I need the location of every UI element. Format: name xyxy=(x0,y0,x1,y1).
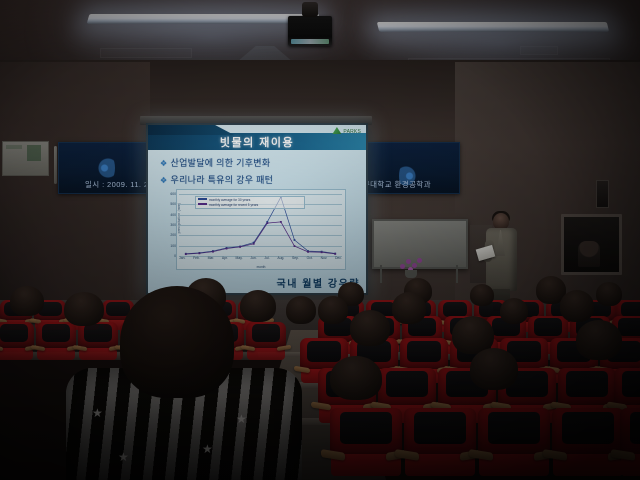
chart-data-point xyxy=(294,245,296,247)
chart-data-point xyxy=(321,251,323,253)
legend-label: monthly average for recent 5 years xyxy=(209,203,258,207)
presentation-slide: 빗물의 재이용 PARKS ❖산업발달에 의한 기후변화 ❖우리나라 특유의 강… xyxy=(148,125,366,293)
list-item: ❖우리나라 특유의 강우 패턴 xyxy=(160,173,352,186)
bullet-icon: ❖ xyxy=(160,176,167,185)
auditorium-seat xyxy=(36,322,76,362)
audience-member: ★ ★ ★ ★ ★ xyxy=(78,286,288,480)
audience-head xyxy=(500,298,528,324)
slide-bullet-list: ❖산업발달에 의한 기후변화 ❖우리나라 특유의 강우 패턴 xyxy=(160,156,352,190)
audience-member xyxy=(330,356,382,400)
chart-data-point xyxy=(266,222,268,224)
audience-head xyxy=(596,282,622,306)
chart-data-point xyxy=(294,239,296,241)
wall-speaker xyxy=(596,180,609,208)
seat-back-inner xyxy=(386,371,428,397)
chart-x-tick: Sep. xyxy=(292,256,299,264)
seat-back-inner xyxy=(42,324,71,342)
audience-member xyxy=(392,292,426,324)
seat-back-inner xyxy=(566,371,608,397)
wall-poster xyxy=(2,141,49,176)
chart-data-point xyxy=(185,253,187,255)
chart-plot-area: monthly average for 30 years monthly ave… xyxy=(179,194,342,256)
auditorium-seat xyxy=(620,408,640,480)
rainfall-chart: precipitation (mm) 6005004003002001000 m… xyxy=(176,189,346,270)
auditorium-seat xyxy=(404,408,476,480)
bullet-text: 산업발달에 의한 기후변화 xyxy=(170,158,270,168)
chart-x-axis-label: month xyxy=(177,265,345,269)
ceiling-projector xyxy=(288,16,332,46)
seat-back-inner xyxy=(340,412,392,444)
wall-light-strip xyxy=(54,146,57,184)
audience-member xyxy=(286,296,316,324)
chart-x-tick: Jun. xyxy=(250,256,256,264)
chart-y-tick: 500 xyxy=(164,202,176,206)
auditorium-seat xyxy=(0,322,34,362)
audience-head xyxy=(470,284,494,306)
seat-back-inner xyxy=(562,412,614,444)
chart-y-tick: 100 xyxy=(164,244,176,248)
booth-operator xyxy=(578,241,600,267)
ceiling-vent-right xyxy=(520,46,558,55)
audience-member xyxy=(560,290,594,322)
flower-vase xyxy=(405,270,417,278)
seat-back-inner xyxy=(443,302,467,317)
audience-head xyxy=(470,348,518,390)
seat-back-inner xyxy=(414,412,466,444)
audience-head xyxy=(560,290,594,322)
audience-member xyxy=(470,284,494,306)
slide-logo: PARKS xyxy=(327,127,361,138)
legend-swatch xyxy=(198,203,207,205)
audience-head xyxy=(392,292,426,324)
legend-label: monthly average for 30 years xyxy=(209,198,250,202)
seat-back-inner xyxy=(622,371,640,397)
seat-back-inner xyxy=(488,412,540,444)
auditorium-seat xyxy=(478,408,550,480)
chart-legend: monthly average for 30 years monthly ave… xyxy=(195,196,305,209)
chart-x-tick: Apr. xyxy=(222,256,228,264)
seat-back-inner xyxy=(621,302,640,317)
auditorium-seat xyxy=(330,408,402,480)
chart-y-tick: 200 xyxy=(164,233,176,237)
audience-head xyxy=(576,320,622,360)
audience-member xyxy=(350,310,390,346)
legend-item: monthly average for recent 5 years xyxy=(198,203,302,208)
seat-back-inner xyxy=(407,341,442,362)
audience-member xyxy=(10,286,44,316)
projection-booth-window xyxy=(561,214,622,275)
audience-head xyxy=(318,296,348,324)
chart-line-series xyxy=(186,222,335,254)
chart-x-ticks: Jan.Feb.Mar.Apr.May.Jun.Jul.Aug.Sep.Oct.… xyxy=(179,256,342,264)
audience-member xyxy=(576,320,622,360)
seat-back-inner xyxy=(534,318,563,336)
chart-y-tick: 300 xyxy=(164,223,176,227)
ceiling-light-right xyxy=(377,22,609,32)
chart-data-point xyxy=(253,243,255,245)
bullet-icon: ❖ xyxy=(160,159,167,168)
chart-x-tick: Nov. xyxy=(321,256,328,264)
audience-head xyxy=(350,310,390,346)
audience-member xyxy=(318,296,348,324)
chart-x-tick: Feb. xyxy=(193,256,200,264)
bullet-text: 우리나라 특유의 강우 패턴 xyxy=(170,175,273,185)
audience-head xyxy=(330,356,382,400)
chart-data-point xyxy=(198,252,200,254)
ceiling-light-left xyxy=(87,14,320,24)
audience-head xyxy=(10,286,44,316)
chart-y-tick: 400 xyxy=(164,213,176,217)
chart-x-tick: Mar. xyxy=(208,256,215,264)
chart-data-point xyxy=(334,253,336,255)
chart-x-tick: Aug. xyxy=(277,256,284,264)
whiteboard-leg-left xyxy=(380,265,382,283)
auditorium-seat xyxy=(552,408,624,480)
chart-x-tick: Jan. xyxy=(179,256,185,264)
audience-member xyxy=(596,282,622,306)
ceiling-vent-left xyxy=(100,48,192,58)
chart-data-point xyxy=(212,251,214,253)
legend-swatch xyxy=(198,198,207,200)
seat-back-inner xyxy=(0,324,28,342)
projection-screen: 빗물의 재이용 PARKS ❖산업발달에 의한 기후변화 ❖우리나라 특유의 강… xyxy=(146,123,368,295)
chart-data-point xyxy=(280,221,282,223)
chart-x-tick: Jul. xyxy=(264,256,269,264)
auditorium-scene: 대구대 발표회 일시 : 2009. 11. 20 대구대학교 환경공학과 빗물… xyxy=(0,0,640,480)
chart-y-tick: 0 xyxy=(164,254,176,258)
audience-member xyxy=(470,348,518,390)
list-item: ❖산업발달에 의한 기후변화 xyxy=(160,156,352,169)
chart-data-point xyxy=(226,248,228,250)
audience-member xyxy=(500,298,528,324)
chart-y-tick: 600 xyxy=(164,192,176,196)
seat-back-inner xyxy=(630,412,640,444)
audience-head xyxy=(286,296,316,324)
audience-head xyxy=(120,286,234,398)
whiteboard-leg-right xyxy=(456,265,458,283)
slide-logo-text: PARKS xyxy=(343,129,361,135)
banner-date: 일시 : 2009. 11. 20 xyxy=(85,179,153,190)
chart-data-point xyxy=(307,251,309,253)
chart-data-point xyxy=(239,246,241,248)
chart-x-tick: May. xyxy=(236,256,243,264)
leaf-icon xyxy=(332,127,341,134)
chart-x-tick: Dec. xyxy=(335,256,342,264)
chart-x-tick: Oct. xyxy=(307,256,313,264)
